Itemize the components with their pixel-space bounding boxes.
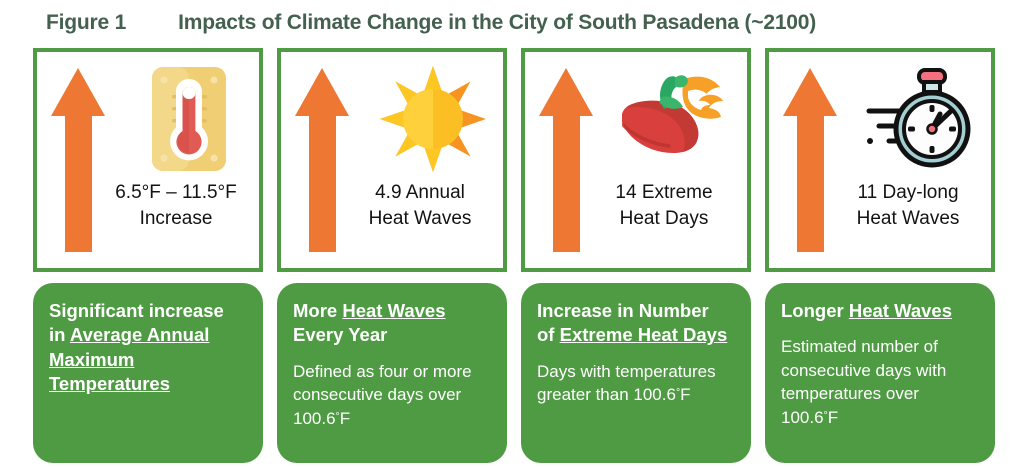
caption-line-2: Heat Days [587, 206, 741, 232]
caption-line-1: 4.9 Annual [343, 180, 497, 206]
stat-panel-temperature: 6.5°F – 11.5°F Increase [33, 48, 263, 272]
figure-label: Figure 1 [46, 11, 126, 35]
caption-line-1: 11 Day-long [831, 180, 985, 206]
climate-impacts-infographic: Figure 1 Impacts of Climate Change in th… [0, 0, 1024, 467]
up-arrow-increase-icon [295, 68, 349, 252]
heading-plain-2: in [49, 324, 70, 345]
caption-line-2: Heat Waves [831, 206, 985, 232]
heading-underlined: Average Annual Maximum Temperatures [49, 324, 209, 394]
description-body: Defined as four or more consecutive days… [293, 360, 491, 430]
heading-underlined: Extreme Heat Days [560, 324, 728, 345]
description-heading: Increase in Numberof Extreme Heat Days [537, 299, 735, 348]
figure-title-row: Figure 1 Impacts of Climate Change in th… [46, 6, 996, 40]
up-arrow-increase-icon [783, 68, 837, 252]
stopwatch-icon [865, 60, 977, 178]
up-arrow-increase-icon [51, 68, 105, 252]
heading-plain-1: Longer [781, 300, 849, 321]
thermometer-icon [133, 60, 245, 178]
description-box-day-long-heat-waves: Longer Heat Waves Estimated number of co… [765, 283, 995, 463]
chili-pepper-flame-icon [621, 60, 733, 178]
stat-panel-extreme-heat-days: 14 Extreme Heat Days [521, 48, 751, 272]
description-body: Days with temperatures greater than 100.… [537, 360, 735, 407]
up-arrow-increase-icon [539, 68, 593, 252]
heading-plain-2: of [537, 324, 560, 345]
heading-plain-1: Increase in Number [537, 300, 709, 321]
caption-line-2: Heat Waves [343, 206, 497, 232]
panel-caption-annual-heat-waves: 4.9 Annual Heat Waves [343, 180, 497, 231]
panel-caption-day-long-heat-waves: 11 Day-long Heat Waves [831, 180, 985, 231]
description-box-temperature: Significant increasein Average Annual Ma… [33, 283, 263, 463]
caption-line-2: Increase [99, 206, 253, 232]
description-body: Estimated number of consecutive days wit… [781, 335, 979, 429]
heading-plain-2: Every Year [293, 324, 387, 345]
body-text: Estimated number of consecutive days wit… [781, 337, 946, 426]
description-heading: Longer Heat Waves [781, 299, 979, 323]
body-text: Defined as four or more consecutive days… [293, 362, 472, 428]
heading-underlined: Heat Waves [342, 300, 445, 321]
caption-line-1: 6.5°F – 11.5°F [99, 180, 253, 206]
body-unit: F [680, 385, 690, 404]
heading-underlined: Heat Waves [849, 300, 952, 321]
description-box-extreme-heat-days: Increase in Numberof Extreme Heat Days D… [521, 283, 751, 463]
figure-title: Impacts of Climate Change in the City of… [178, 11, 816, 35]
stat-panel-day-long-heat-waves: 11 Day-long Heat Waves [765, 48, 995, 272]
caption-line-1: 14 Extreme [587, 180, 741, 206]
panel-caption-extreme-heat-days: 14 Extreme Heat Days [587, 180, 741, 231]
description-box-annual-heat-waves: More Heat WavesEvery Year Defined as fou… [277, 283, 507, 463]
description-heading: More Heat WavesEvery Year [293, 299, 491, 348]
body-unit: F [828, 408, 838, 427]
panel-caption-temperature: 6.5°F – 11.5°F Increase [99, 180, 253, 231]
heading-plain-1: More [293, 300, 342, 321]
body-unit: F [340, 409, 350, 428]
description-heading: Significant increasein Average Annual Ma… [49, 299, 247, 397]
stat-panel-annual-heat-waves: 4.9 Annual Heat Waves [277, 48, 507, 272]
description-box-row: Significant increasein Average Annual Ma… [33, 283, 995, 463]
stat-panel-row: 6.5°F – 11.5°F Increase [33, 48, 995, 272]
sun-icon [377, 60, 489, 178]
heading-plain-1: Significant increase [49, 300, 224, 321]
